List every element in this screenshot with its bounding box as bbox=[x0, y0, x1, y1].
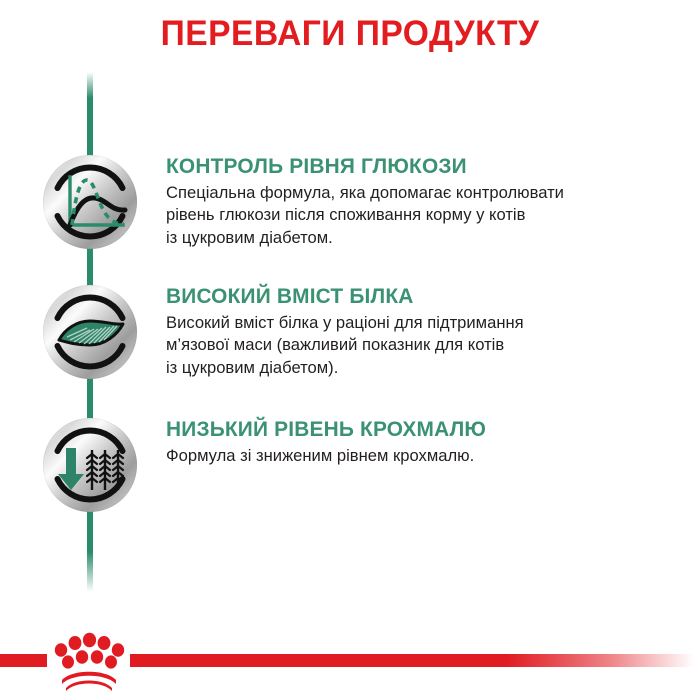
feature-body-line: рівень глюкози після споживання корму у … bbox=[166, 204, 666, 227]
feature-copy: ВИСОКИЙ ВМІСТ БІЛКА Високий вміст білка … bbox=[166, 285, 666, 379]
royal-canin-crown-logo bbox=[44, 628, 134, 692]
feature-title: КОНТРОЛЬ РІВНЯ ГЛЮКОЗИ bbox=[166, 155, 651, 178]
muscle-fiber-icon bbox=[43, 285, 137, 379]
footer bbox=[0, 628, 700, 700]
feature-body: Формула зі зниженим рівнем крохмалю. bbox=[166, 445, 666, 468]
footer-bar-right bbox=[130, 654, 700, 667]
feature-body-line: Спеціальна формула, яка допомагає контро… bbox=[166, 182, 666, 205]
feature-copy: КОНТРОЛЬ РІВНЯ ГЛЮКОЗИ Спеціальна формул… bbox=[166, 155, 666, 249]
feature-body-line: із цукровим діабетом). bbox=[166, 357, 666, 380]
feature-body-line: із цукровим діабетом. bbox=[166, 227, 666, 250]
feature-body: Високий вміст білка у раціоні для підтри… bbox=[166, 312, 666, 380]
feature-copy: НИЗЬКИЙ РІВЕНЬ КРОХМАЛЮ Формула зі зниже… bbox=[166, 418, 666, 467]
footer-bar-left bbox=[0, 654, 47, 667]
low-starch-wheat-arrow-icon bbox=[43, 418, 137, 512]
feature-body-line: Високий вміст білка у раціоні для підтри… bbox=[166, 312, 666, 335]
feature-title: НИЗЬКИЙ РІВЕНЬ КРОХМАЛЮ bbox=[166, 418, 651, 441]
feature-body: Спеціальна формула, яка допомагає контро… bbox=[166, 182, 666, 250]
feature-title: ВИСОКИЙ ВМІСТ БІЛКА bbox=[166, 285, 651, 308]
product-benefits-page: ПЕРЕВАГИ ПРОДУКТУ КОНТРОЛЬ РІВНЯ ГЛЮКОЗИ… bbox=[0, 0, 700, 700]
feature-body-line: м’язової маси (важливий показник для кот… bbox=[166, 334, 666, 357]
glucose-curve-icon bbox=[43, 155, 137, 249]
page-title: ПЕРЕВАГИ ПРОДУКТУ bbox=[14, 14, 686, 54]
feature-body-line: Формула зі зниженим рівнем крохмалю. bbox=[166, 445, 666, 468]
